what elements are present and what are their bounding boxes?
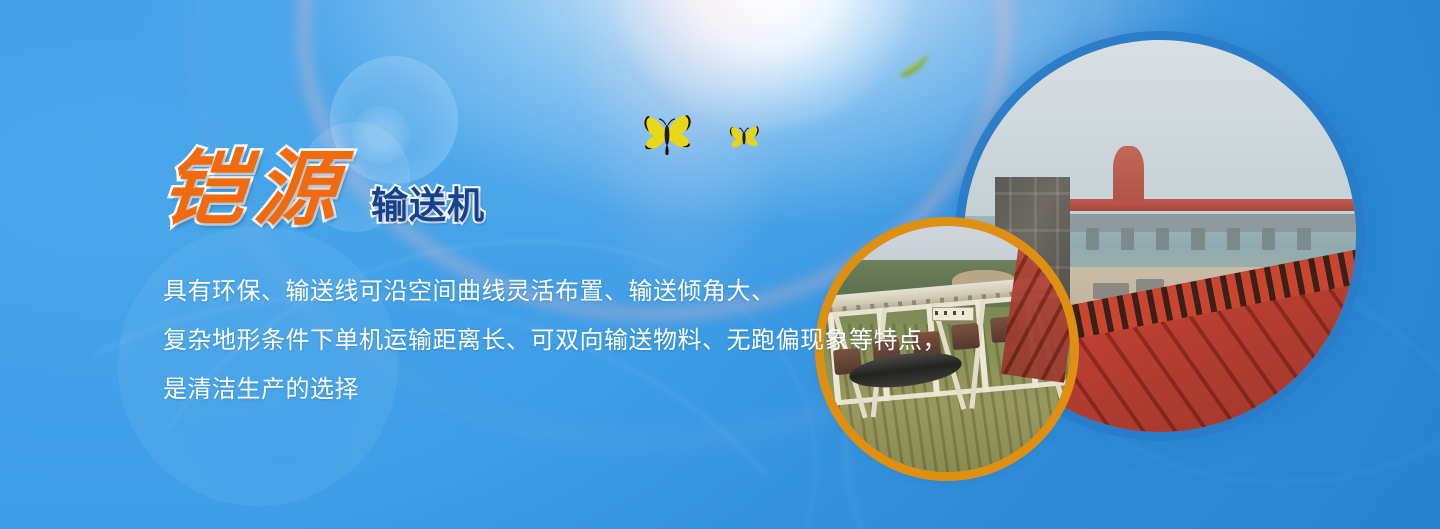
butterfly-icon [728, 124, 761, 156]
photo-pier [1297, 228, 1310, 250]
leaf-icon [898, 52, 932, 83]
butterfly-icon [640, 112, 696, 161]
banner-copy: 铠源 输送机 具有环保、输送线可沿空间曲线灵活布置、输送倾角大、 复杂地形条件下… [163, 143, 923, 414]
photo-pier [1156, 228, 1169, 250]
banner-description: 具有环保、输送线可沿空间曲线灵活布置、输送倾角大、 复杂地形条件下单机运输距离长… [163, 267, 923, 414]
photo-pier [1121, 228, 1134, 250]
photo-pier [1191, 228, 1204, 250]
product-banner: 铠源 输送机 具有环保、输送线可沿空间曲线灵活布置、输送倾角大、 复杂地形条件下… [0, 0, 1440, 529]
banner-title-row: 铠源 输送机 [163, 143, 923, 231]
photo-name-plate-text [935, 311, 965, 315]
photo-pier [1262, 228, 1275, 250]
photo-shiploader-tower [1113, 146, 1144, 201]
brand-name: 铠源 [159, 149, 350, 231]
description-line-3: 是清洁生产的选择 [163, 365, 923, 414]
photo-red-jetty-truss [1035, 199, 1356, 212]
description-line-2: 复杂地形条件下单机运输距离长、可双向输送物料、无跑偏现象等特点， [163, 316, 923, 365]
photo-pier [1086, 228, 1099, 250]
product-name: 输送机 [371, 187, 485, 224]
description-line-1: 具有环保、输送线可沿空间曲线灵活布置、输送倾角大、 [163, 267, 923, 316]
photo-idler [951, 323, 980, 350]
photo-pier [1227, 228, 1240, 250]
